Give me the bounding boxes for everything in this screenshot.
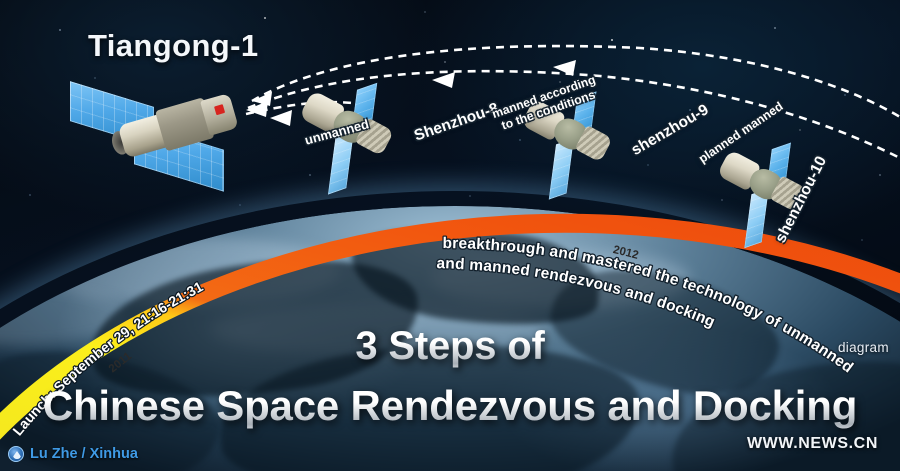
credit-text: Lu Zhe / Xinhua [30,446,138,462]
label-tiangong-1: Tiangong-1 [88,28,258,64]
headline-line-2: Chinese Space Rendezvous and Docking [0,382,900,430]
site-watermark: WWW.NEWS.CN [747,435,878,453]
xinhua-circle-logo-icon [8,446,24,462]
headline-line-1: 3 Steps of [0,324,900,369]
infographic-canvas: Launch: September 29, 21:16-21:31 2011 b… [0,0,900,471]
credit-block: Lu Zhe / Xinhua [8,446,138,462]
spacecraft-tiangong-1 [68,74,280,194]
